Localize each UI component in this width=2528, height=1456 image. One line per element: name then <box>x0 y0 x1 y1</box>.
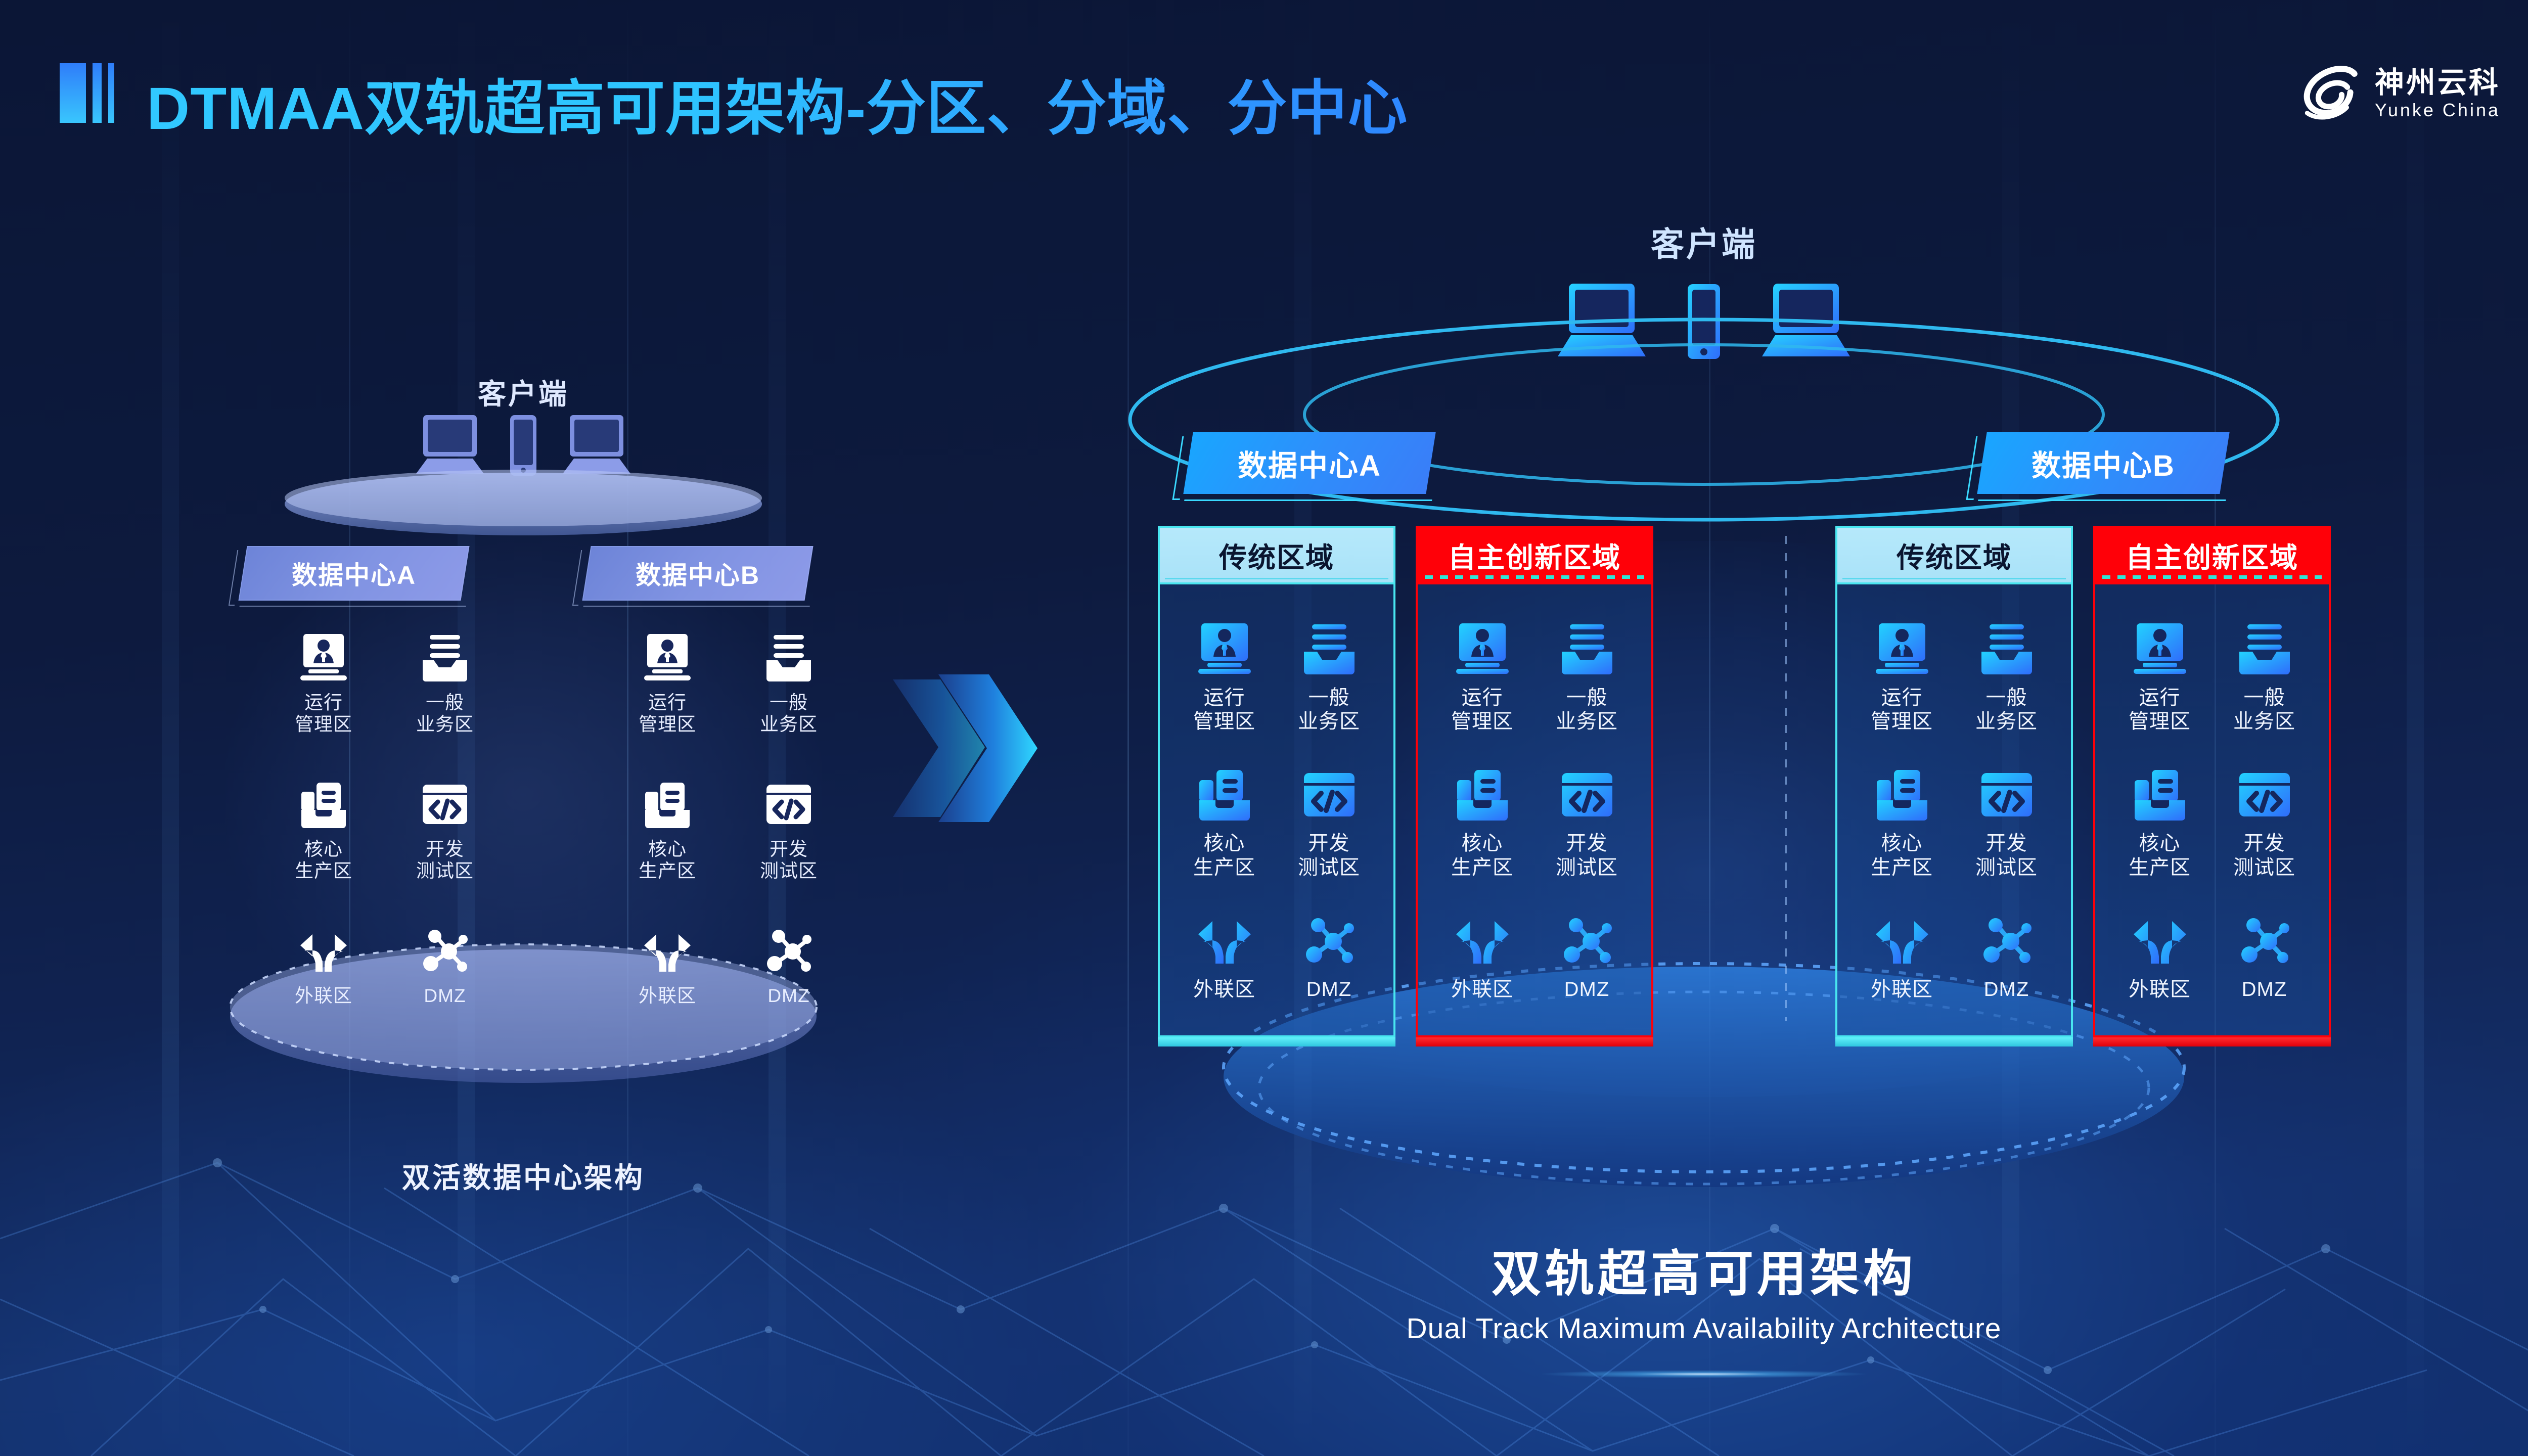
monitor-user-icon <box>1454 621 1511 678</box>
zone-item[interactable]: DMZ <box>1956 913 2057 1002</box>
zone-item[interactable]: 外联区 <box>1174 913 1275 1002</box>
zone-item[interactable]: DMZ <box>2214 913 2315 1002</box>
zone-label-line1: DMZ <box>1984 978 2029 1000</box>
zone-column-body: 运行管理区 一般业务区 核心生产区 开发测试区 外联区 <box>1158 582 1395 1037</box>
zone-item[interactable]: DMZ <box>1279 913 1380 1002</box>
zone-label-line1: 一般 <box>1566 687 1608 709</box>
zone-column-header: 自主创新区域 <box>2093 526 2331 582</box>
zone-label-line1: 运行 <box>1462 687 1503 709</box>
zone-label-line1: 开发 <box>426 839 464 859</box>
left-datacenter-a-label: 数据中心A <box>292 555 416 591</box>
zone-item[interactable]: DMZ <box>1537 913 1638 1002</box>
zone-label-line1: 外联区 <box>639 985 696 1006</box>
inbox-tray-icon <box>1559 621 1615 678</box>
right-client-label: 客户端 <box>1651 217 1757 266</box>
zone-item[interactable]: 核心生产区 <box>2109 767 2210 879</box>
zone-item[interactable]: 开发测试区 <box>1537 767 1638 879</box>
zone-label-line2: 业务区 <box>1556 710 1618 733</box>
laptop-icon <box>412 412 488 478</box>
server-doc-icon <box>2132 767 2188 824</box>
zone-label-line1: 外联区 <box>1193 978 1255 1000</box>
branch-arrows-icon <box>1874 913 1930 970</box>
zone-item[interactable]: 运行管理区 <box>1432 621 1533 734</box>
zone-label-line2: 业务区 <box>1975 710 2038 733</box>
code-window-icon <box>1301 767 1358 824</box>
zone-column-innovation-a: 自主创新区域 运行管理区 一般业务区 核心生产区 开发测试区 <box>1416 526 1653 1037</box>
zone-item[interactable]: 运行管理区 <box>617 632 718 736</box>
zone-label-line2: 测试区 <box>1556 856 1618 879</box>
zone-label-line2: 管理区 <box>295 714 352 735</box>
server-doc-icon <box>641 779 694 831</box>
branch-arrows-icon <box>1196 913 1253 970</box>
left-datacenter-b-banner[interactable]: 数据中心B <box>582 546 813 601</box>
monitor-user-icon <box>641 632 694 685</box>
zone-label-line2: 生产区 <box>639 860 696 881</box>
zone-label-line2: 生产区 <box>2129 856 2191 879</box>
left-client-devices <box>412 412 635 478</box>
center-divider <box>1785 536 1787 1021</box>
zone-label-line2: 管理区 <box>1451 710 1513 733</box>
zone-item[interactable]: 一般业务区 <box>394 632 495 736</box>
zone-label-line1: 运行 <box>1881 687 1923 709</box>
zone-label-line1: 一般 <box>1986 687 2027 709</box>
zone-item[interactable]: 外联区 <box>1852 913 1953 1002</box>
zone-label-line2: 管理区 <box>2129 710 2191 733</box>
right-datacenter-b-label: 数据中心B <box>2032 442 2175 484</box>
zone-item[interactable]: 一般业务区 <box>1537 621 1638 734</box>
zone-label-line1: DMZ <box>768 985 809 1006</box>
zone-column-body: 运行管理区 一般业务区 核心生产区 开发测试区 外联区 <box>1835 582 2073 1037</box>
zone-item[interactable]: DMZ <box>738 925 839 1007</box>
laptop-icon <box>1758 281 1854 361</box>
slide-canvas: DTMAA双轨超高可用架构-分区、分域、分中心 神州云科 Yunke China… <box>0 0 2528 1456</box>
zone-label-line2: 业务区 <box>2233 710 2295 733</box>
zone-label-line1: DMZ <box>1306 978 1352 1000</box>
monitor-user-icon <box>1874 621 1930 678</box>
left-datacenter-a-banner[interactable]: 数据中心A <box>238 546 469 601</box>
zone-item[interactable]: 开发测试区 <box>738 779 839 882</box>
code-window-icon <box>2236 767 2293 824</box>
zone-item[interactable]: 运行管理区 <box>1852 621 1953 734</box>
zone-item[interactable]: 核心生产区 <box>1852 767 1953 879</box>
zone-item[interactable]: 一般业务区 <box>1956 621 2057 734</box>
left-diagram-caption: 双活数据中心架构 <box>402 1155 645 1196</box>
zone-item[interactable]: 外联区 <box>617 925 718 1007</box>
right-datacenter-a-label: 数据中心A <box>1238 442 1381 484</box>
zone-label-line2: 管理区 <box>1193 710 1255 733</box>
zone-item[interactable]: 核心生产区 <box>1174 767 1275 879</box>
zone-label-line1: 核心 <box>304 839 343 859</box>
zone-label-line1: DMZ <box>2242 978 2287 1000</box>
monitor-user-icon <box>297 632 350 685</box>
right-datacenter-b-banner[interactable]: 数据中心B <box>1977 432 2229 494</box>
server-doc-icon <box>1874 767 1930 824</box>
code-window-icon <box>762 779 815 831</box>
server-doc-icon <box>297 779 350 831</box>
zone-label-line1: 运行 <box>304 692 343 713</box>
inbox-tray-icon <box>2236 621 2293 678</box>
zone-label-line1: DMZ <box>424 985 466 1006</box>
branch-arrows-icon <box>1454 913 1511 970</box>
zone-item[interactable]: 核心生产区 <box>617 779 718 882</box>
right-datacenter-a-banner[interactable]: 数据中心A <box>1183 432 1435 494</box>
zone-label-line1: 运行 <box>1204 687 1245 709</box>
bottom-title-cn: 双轨超高可用架构 <box>1492 1234 1916 1305</box>
zone-label-line2: 管理区 <box>1871 710 1933 733</box>
zone-item[interactable]: 一般业务区 <box>2214 621 2315 734</box>
inbox-tray-icon <box>1301 621 1358 678</box>
network-nodes-icon <box>1559 913 1615 970</box>
zone-label-line2: 测试区 <box>416 860 474 881</box>
zone-column-body: 运行管理区 一般业务区 核心生产区 开发测试区 外联区 <box>2093 582 2331 1037</box>
zone-item[interactable]: DMZ <box>394 925 495 1007</box>
transition-arrow-icon <box>890 672 1042 824</box>
zone-column-header: 自主创新区域 <box>1416 526 1653 582</box>
zone-item[interactable]: 开发测试区 <box>394 779 495 882</box>
zone-label-line1: 开发 <box>1566 832 1608 854</box>
zone-label-line2: 测试区 <box>2233 856 2295 879</box>
right-client-devices <box>1554 281 1854 361</box>
smartphone-icon <box>1685 282 1723 361</box>
zone-label-line1: 开发 <box>2244 832 2285 854</box>
server-doc-icon <box>1454 767 1511 824</box>
zone-label-line1: 外联区 <box>295 985 352 1006</box>
network-nodes-icon <box>1301 913 1358 970</box>
laptop-icon <box>1554 281 1650 361</box>
zone-item[interactable]: 外联区 <box>2109 913 2210 1002</box>
zone-column-innovation-b: 自主创新区域 运行管理区 一般业务区 核心生产区 开发测试区 <box>2093 526 2331 1037</box>
left-datacenter-b-label: 数据中心B <box>636 555 760 591</box>
zone-label-line2: 测试区 <box>1975 856 2038 879</box>
monitor-user-icon <box>2132 621 2188 678</box>
zone-label-line1: 一般 <box>770 692 808 713</box>
zone-label-line1: 运行 <box>648 692 687 713</box>
zone-label-line1: 开发 <box>1308 832 1350 854</box>
zone-column-header: 传统区域 <box>1835 526 2073 582</box>
zone-item[interactable]: 核心生产区 <box>1432 767 1533 879</box>
zone-column-body: 运行管理区 一般业务区 核心生产区 开发测试区 外联区 <box>1416 582 1653 1037</box>
laptop-icon <box>559 412 635 478</box>
zone-label-line2: 业务区 <box>1298 710 1360 733</box>
zone-column-traditional-a: 传统区域 运行管理区 一般业务区 核心生产区 开发测试区 <box>1158 526 1395 1037</box>
zone-item[interactable]: 开发测试区 <box>1279 767 1380 879</box>
zone-label-line1: 一般 <box>426 692 464 713</box>
zone-item[interactable]: 外联区 <box>273 925 374 1007</box>
zone-column-traditional-b: 传统区域 运行管理区 一般业务区 核心生产区 开发测试区 <box>1835 526 2073 1037</box>
zone-label-line1: 核心 <box>1881 832 1923 854</box>
zone-item[interactable]: 运行管理区 <box>1174 621 1275 734</box>
zone-label-line2: 生产区 <box>295 860 352 881</box>
zone-label-line2: 业务区 <box>416 714 474 735</box>
bottom-title-glow <box>1542 1370 1866 1378</box>
zone-label-line2: 测试区 <box>1298 856 1360 879</box>
server-doc-icon <box>1196 767 1253 824</box>
code-window-icon <box>1559 767 1615 824</box>
zone-item[interactable]: 开发测试区 <box>2214 767 2315 879</box>
zone-label-line1: 核心 <box>648 839 687 859</box>
zone-label-line1: 外联区 <box>2129 978 2191 1000</box>
inbox-tray-icon <box>1978 621 2035 678</box>
zone-item[interactable]: 运行管理区 <box>2109 621 2210 734</box>
branch-arrows-icon <box>297 925 350 978</box>
zone-label-line1: DMZ <box>1564 978 1610 1000</box>
zone-label-line2: 管理区 <box>639 714 696 735</box>
zone-label-line2: 业务区 <box>760 714 818 735</box>
left-client-platform <box>281 468 766 543</box>
code-window-icon <box>1978 767 2035 824</box>
zone-item[interactable]: 运行管理区 <box>273 632 374 736</box>
network-nodes-icon <box>419 925 471 978</box>
zone-item[interactable]: 核心生产区 <box>273 779 374 882</box>
zone-item[interactable]: 一般业务区 <box>1279 621 1380 734</box>
zone-label-line1: 开发 <box>1986 832 2027 854</box>
inbox-tray-icon <box>419 632 471 685</box>
network-nodes-icon <box>1978 913 2035 970</box>
zone-label-line1: 一般 <box>2244 687 2285 709</box>
inbox-tray-icon <box>762 632 815 685</box>
zone-label-line2: 生产区 <box>1871 856 1933 879</box>
zone-label-line2: 生产区 <box>1451 856 1513 879</box>
zone-column-header: 传统区域 <box>1158 526 1395 582</box>
zone-label-line1: 运行 <box>2139 687 2181 709</box>
zone-label-line1: 核心 <box>1462 832 1503 854</box>
network-nodes-icon <box>2236 913 2293 970</box>
zone-item[interactable]: 外联区 <box>1432 913 1533 1002</box>
code-window-icon <box>419 779 471 831</box>
left-client-label: 客户端 <box>478 372 569 413</box>
right-diagram: 客户端 <box>1036 0 2528 1456</box>
zone-label-line1: 核心 <box>2139 832 2181 854</box>
zone-item[interactable]: 一般业务区 <box>738 632 839 736</box>
zone-label-line2: 生产区 <box>1193 856 1255 879</box>
network-nodes-icon <box>762 925 815 978</box>
zone-label-line1: 核心 <box>1204 832 1245 854</box>
monitor-user-icon <box>1196 621 1253 678</box>
zone-label-line1: 外联区 <box>1871 978 1933 1000</box>
zone-label-line1: 开发 <box>770 839 808 859</box>
zone-label-line1: 一般 <box>1308 687 1350 709</box>
branch-arrows-icon <box>641 925 694 978</box>
branch-arrows-icon <box>2132 913 2188 970</box>
smartphone-icon <box>508 413 538 478</box>
zone-label-line2: 测试区 <box>760 860 818 881</box>
bottom-title-en: Dual Track Maximum Availability Architec… <box>1406 1312 2001 1345</box>
zone-item[interactable]: 开发测试区 <box>1956 767 2057 879</box>
zone-label-line1: 外联区 <box>1451 978 1513 1000</box>
